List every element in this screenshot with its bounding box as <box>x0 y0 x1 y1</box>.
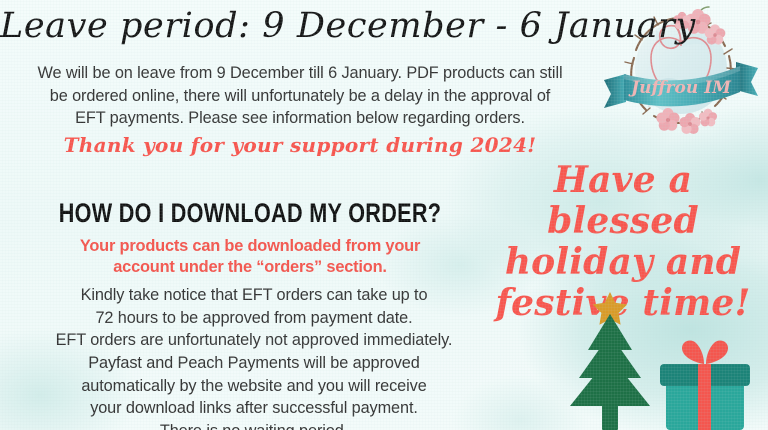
intro-paragraph: We will be on leave from 9 December till… <box>6 62 594 130</box>
orders-section-heading: HOW DO I DOWNLOAD MY ORDER? <box>58 198 442 228</box>
orders-highlight-line-1: Your products can be downloaded from you… <box>10 236 490 257</box>
holiday-announcement-graphic: Juffrou IM Leave period: 9 December - 6 … <box>0 0 768 430</box>
gift-box-icon <box>660 341 750 430</box>
eft-notice-line-3: EFT orders are unfortunately not approve… <box>4 329 504 352</box>
holiday-illustration <box>548 288 768 430</box>
logo-ribbon-text: Juffrou IM <box>628 78 732 98</box>
intro-line-1: We will be on leave from 9 December till… <box>6 62 594 85</box>
greeting-line-2: holiday and <box>478 242 768 283</box>
payment-line-1: Payfast and Peach Payments will be appro… <box>4 352 504 375</box>
payment-line-3: your download links after successful pay… <box>4 397 504 420</box>
page-title: Leave period: 9 December - 6 January <box>0 6 612 46</box>
thank-you-message: Thank you for your support during 2024! <box>6 133 594 157</box>
eft-notice-line-2: 72 hours to be approved from payment dat… <box>4 307 504 330</box>
greeting-line-1: Have a blessed <box>478 160 768 242</box>
payment-line-2: automatically by the website and you wil… <box>4 375 504 398</box>
payment-gateway-paragraph: Payfast and Peach Payments will be appro… <box>4 352 504 430</box>
christmas-tree-icon <box>570 314 650 430</box>
eft-notice-line-1: Kindly take notice that EFT orders can t… <box>4 284 504 307</box>
eft-notice-paragraph: Kindly take notice that EFT orders can t… <box>4 284 504 352</box>
orders-highlight: Your products can be downloaded from you… <box>10 236 490 278</box>
orders-highlight-line-2: account under the “orders” section. <box>10 257 490 278</box>
intro-line-3: EFT payments. Please see information bel… <box>6 107 594 130</box>
payment-line-4: There is no waiting period. <box>4 420 504 430</box>
intro-line-2: be ordered online, there will unfortunat… <box>6 85 594 108</box>
